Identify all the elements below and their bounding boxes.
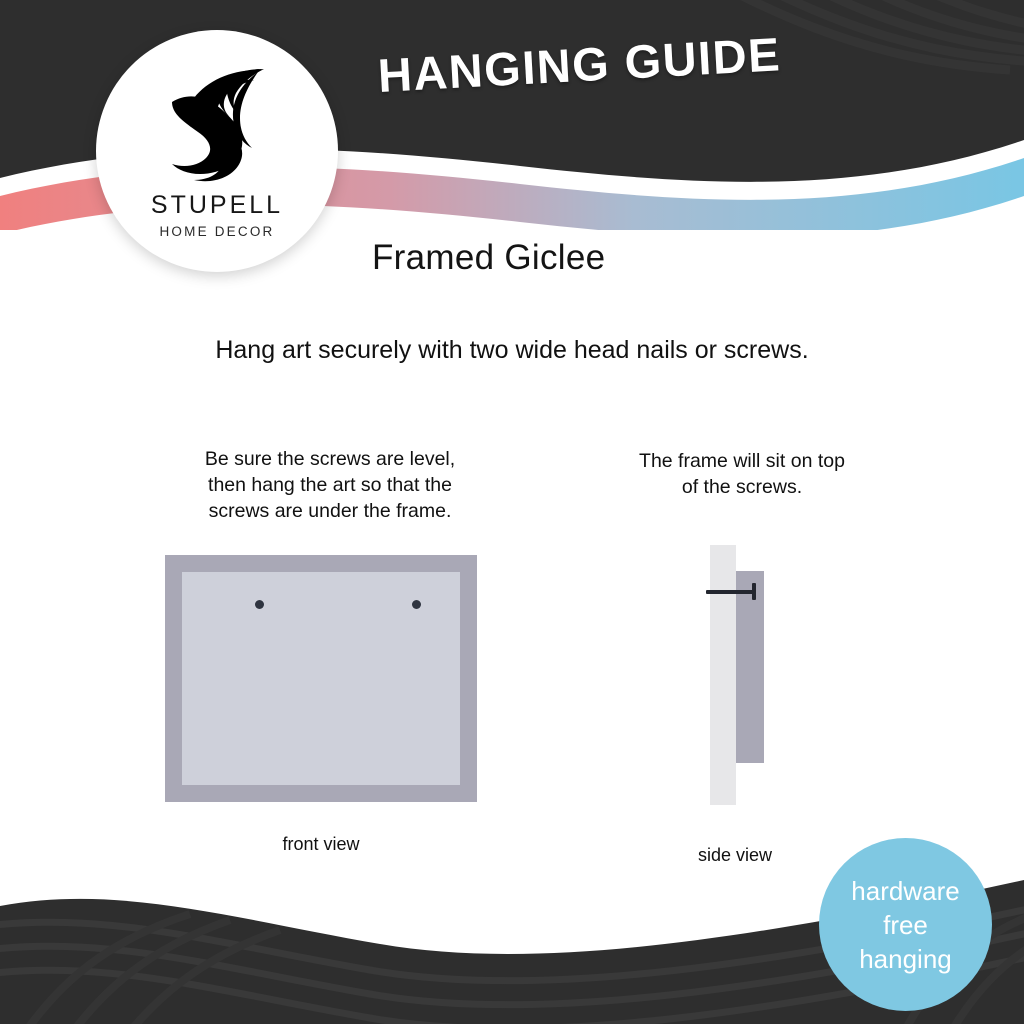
badge-line-2: free [883, 908, 928, 942]
wall-strip [710, 545, 736, 805]
hanging-guide-infographic: HANGING GUIDE STUPELL HOME DECOR Framed … [0, 0, 1024, 1024]
side-view-frame-diagram [700, 545, 790, 805]
brand-name: STUPELL [151, 191, 283, 220]
frame-mat-area [182, 572, 460, 785]
side-caption-line-2: of the screws. [592, 474, 892, 500]
badge-line-3: hanging [859, 942, 952, 976]
stupell-swirl-s-logo-icon [158, 58, 276, 188]
lead-instruction-text: Hang art securely with two wide head nai… [0, 336, 1024, 365]
badge-line-1: hardware [851, 874, 959, 908]
front-view-caption: Be sure the screws are level, then hang … [165, 446, 495, 524]
side-caption-line-1: The frame will sit on top [592, 448, 892, 474]
front-caption-line-1: Be sure the screws are level, [165, 446, 495, 472]
screw-dot-right-icon [412, 600, 421, 609]
front-view-label: front view [165, 834, 477, 855]
side-view-caption: The frame will sit on top of the screws. [592, 448, 892, 500]
front-caption-line-2: then hang the art so that the [165, 472, 495, 498]
nail-shaft-icon [706, 590, 754, 594]
screw-dot-left-icon [255, 600, 264, 609]
front-view-frame-diagram [165, 555, 477, 802]
front-caption-line-3: screws are under the frame. [165, 498, 495, 524]
nail-head-icon [752, 583, 756, 600]
brand-logo-badge: STUPELL HOME DECOR [96, 30, 338, 272]
hardware-free-hanging-badge: hardware free hanging [819, 838, 992, 1011]
frame-strip [736, 571, 764, 763]
brand-subtitle: HOME DECOR [159, 224, 274, 239]
product-type-heading: Framed Giclee [372, 238, 605, 278]
